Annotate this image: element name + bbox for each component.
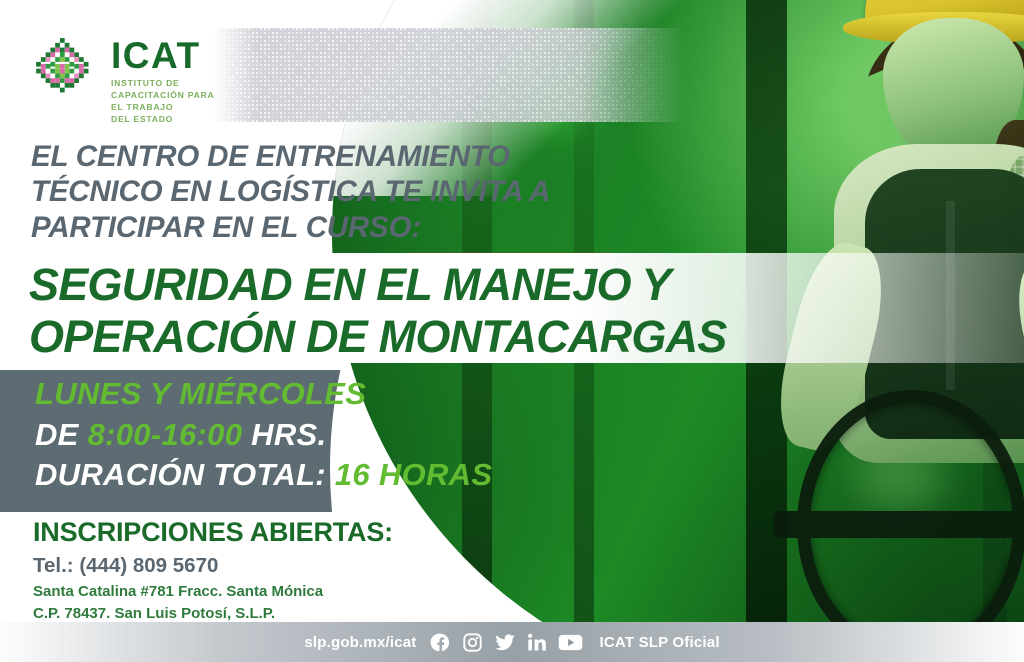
schedule-block: LUNES Y MIÉRCOLES DE 8:00-16:00 HRS. DUR… xyxy=(35,378,635,491)
footer-bar: slp.gob.mx/icat xyxy=(0,622,1024,662)
website-url[interactable]: slp.gob.mx/icat xyxy=(304,634,416,651)
duration-value: 16 HORAS xyxy=(335,457,492,492)
schedule-hours: DE 8:00-16:00 HRS. xyxy=(35,419,635,451)
headline-line: EL CENTRO DE ENTRENAMIENTO xyxy=(31,139,611,174)
facebook-icon[interactable] xyxy=(430,632,451,653)
icat-logo[interactable]: ICAT INSTITUTO DE CAPACITACIÓN PARA EL T… xyxy=(30,34,214,126)
schedule-hours-prefix: DE xyxy=(35,417,88,452)
twitter-icon[interactable] xyxy=(494,632,516,653)
icat-subtitle-line: DEL ESTADO xyxy=(111,114,214,126)
contact-phone[interactable]: Tel.: (444) 809 5670 xyxy=(33,554,553,578)
address-line-2: C.P. 78437. San Luis Potosí, S.L.P. xyxy=(33,603,553,624)
schedule-hours-suffix: HRS. xyxy=(242,417,326,452)
headline-line: PARTICIPAR EN EL CURSO: xyxy=(31,210,611,245)
icat-logo-mark-icon xyxy=(30,34,98,102)
forklift-steering-wheel xyxy=(797,390,1024,662)
registration-title: INSCRIPCIONES ABIERTAS: xyxy=(33,518,553,548)
course-title: SEGURIDAD EN EL MANEJO Y OPERACIÓN DE MO… xyxy=(29,259,929,363)
schedule-hours-value: 8:00-16:00 xyxy=(88,417,243,452)
icat-logo-text: ICAT INSTITUTO DE CAPACITACIÓN PARA EL T… xyxy=(111,34,214,126)
social-icons xyxy=(430,632,583,653)
schedule-days: LUNES Y MIÉRCOLES xyxy=(35,378,635,410)
contact-block: INSCRIPCIONES ABIERTAS: Tel.: (444) 809 … xyxy=(33,518,553,624)
linkedin-icon[interactable] xyxy=(527,632,547,653)
course-title-line: OPERACIÓN DE MONTACARGAS xyxy=(29,311,929,363)
instagram-icon[interactable] xyxy=(462,632,483,653)
greca-pattern-band xyxy=(214,28,684,122)
contact-address: Santa Catalina #781 Fracc. Santa Mónica … xyxy=(33,581,553,624)
icat-subtitle-line: EL TRABAJO xyxy=(111,102,214,114)
course-title-line: SEGURIDAD EN EL MANEJO Y xyxy=(29,259,929,311)
schedule-duration: DURACIÓN TOTAL: 16 HORAS xyxy=(35,459,635,491)
youtube-icon[interactable] xyxy=(558,632,583,653)
headline-line: TÉCNICO EN LOGÍSTICA TE INVITA A xyxy=(31,174,611,209)
icat-subtitle-line: INSTITUTO DE xyxy=(111,78,214,90)
social-handle: ICAT SLP Oficial xyxy=(600,634,720,651)
icat-subtitle: INSTITUTO DE CAPACITACIÓN PARA EL TRABAJ… xyxy=(111,78,214,125)
duration-label: DURACIÓN TOTAL: xyxy=(35,457,335,492)
icat-wordmark: ICAT xyxy=(111,38,214,73)
invitation-headline: EL CENTRO DE ENTRENAMIENTO TÉCNICO EN LO… xyxy=(31,139,611,245)
flyer-poster: ICAT INSTITUTO DE CAPACITACIÓN PARA EL T… xyxy=(0,0,1024,662)
icat-subtitle-line: CAPACITACIÓN PARA xyxy=(111,90,214,102)
address-line-1: Santa Catalina #781 Fracc. Santa Mónica xyxy=(33,581,553,602)
